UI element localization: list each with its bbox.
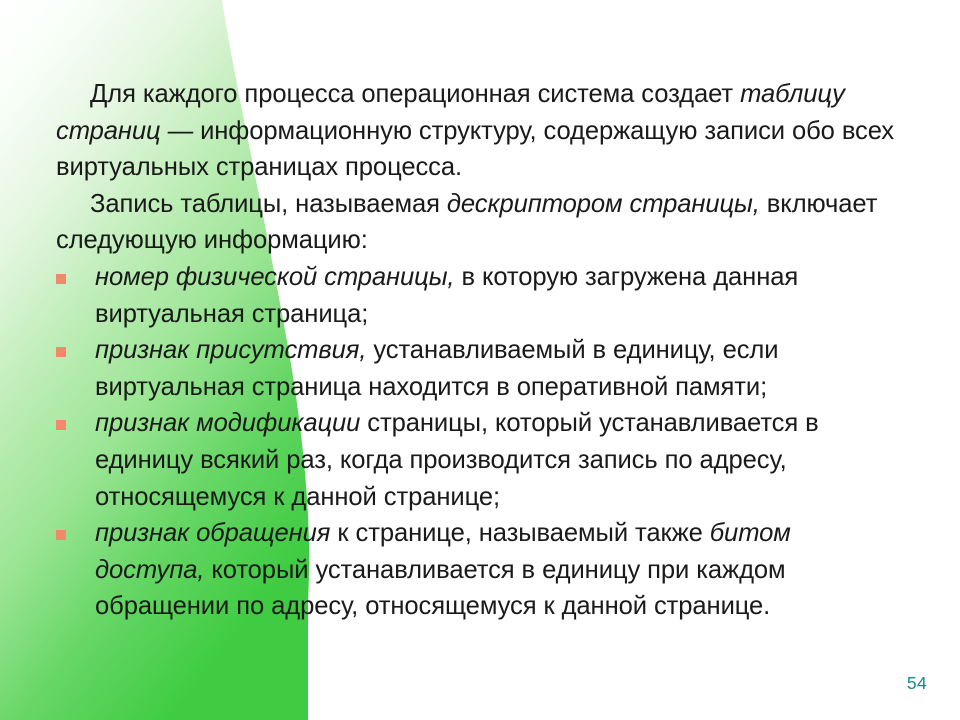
list-item: признак присутствия, устанавливаемый в е… <box>56 332 904 405</box>
page-number: 54 <box>907 675 927 693</box>
list-item: признак модификации страницы, который ус… <box>56 405 904 515</box>
para-1-run-1: Для каждого процесса операционная систем… <box>90 80 740 108</box>
bullet-list: номер физической страницы, в которую заг… <box>56 259 904 625</box>
para-2-run-2-italic: дескриптором страницы, <box>447 190 760 218</box>
bullet-4-run-2: к странице, называемый также <box>330 519 709 547</box>
bullet-4-run-1-italic: признак обращения <box>95 519 330 547</box>
bullet-1-run-1-italic: номер физической страницы, <box>95 263 454 291</box>
paragraph-1: Для каждого процесса операционная систем… <box>56 76 904 186</box>
paragraph-2: Запись таблицы, называемая дескриптором … <box>56 186 904 259</box>
para-1-run-3: — информационную структуру, содержащую з… <box>56 117 894 182</box>
list-item: признак обращения к странице, называемый… <box>56 515 904 625</box>
bullet-2-run-1-italic: признак присутствия, <box>95 336 366 364</box>
para-2-run-1: Запись таблицы, называемая <box>90 190 447 218</box>
square-bullet-icon <box>56 274 66 284</box>
bullet-3-run-1-italic: признак модификации <box>95 409 360 437</box>
list-item: номер физической страницы, в которую заг… <box>56 259 904 332</box>
square-bullet-icon <box>56 347 66 357</box>
slide-canvas: Для каждого процесса операционная систем… <box>0 0 960 720</box>
square-bullet-icon <box>56 530 66 540</box>
slide-body-text: Для каждого процесса операционная систем… <box>56 76 904 625</box>
square-bullet-icon <box>56 420 66 430</box>
